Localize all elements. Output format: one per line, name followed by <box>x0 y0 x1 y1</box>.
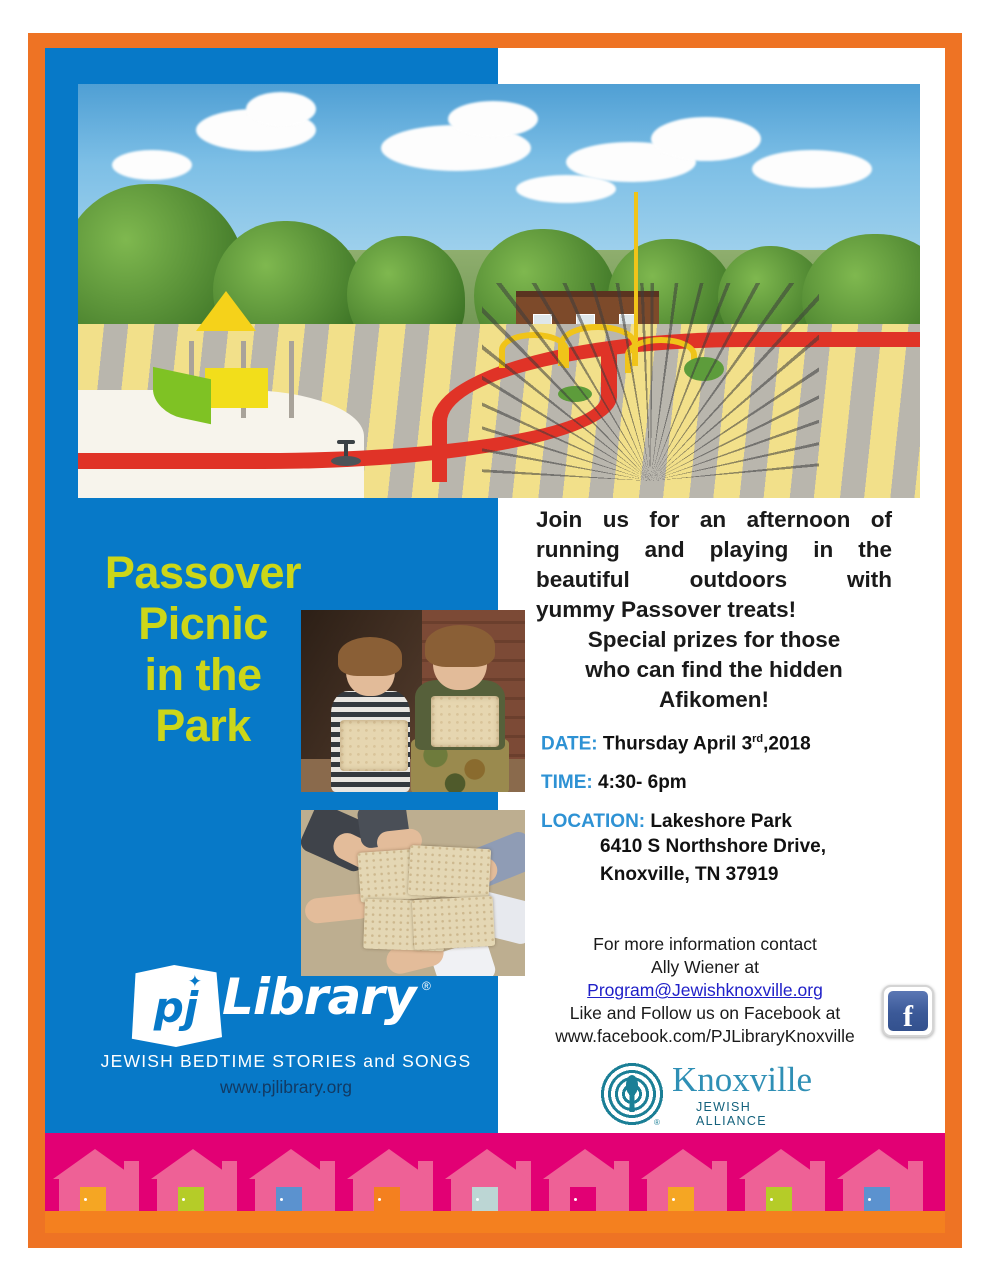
base <box>331 456 361 466</box>
contact-line-4: www.facebook.com/PJLibraryKnoxville <box>531 1025 879 1048</box>
post <box>289 341 294 418</box>
yellow-roof-cone <box>196 291 256 331</box>
hands-sharing-matzah-photo <box>301 810 525 976</box>
roof <box>249 1149 333 1179</box>
spring-rider-toy <box>331 440 361 466</box>
open-book-icon: ✦ pj <box>130 965 222 1047</box>
pj-url: www.pjlibrary.org <box>88 1077 484 1098</box>
body-line-6: who can find the hidden <box>536 655 892 685</box>
body-line-7: Afikomen! <box>536 685 892 715</box>
house-icon <box>249 1149 333 1211</box>
contact-line-3: Like and Follow us on Facebook at <box>531 1002 879 1025</box>
door <box>276 1187 302 1211</box>
email-link[interactable]: Program@Jewishknoxville.org <box>531 979 879 1002</box>
children-eating-matzah-photo <box>301 610 525 792</box>
title-line-4: Park <box>78 701 328 752</box>
cloud <box>112 150 192 180</box>
date-ordinal: rd <box>752 733 763 745</box>
pj-monogram: pj <box>154 987 198 1029</box>
doorknob <box>868 1198 871 1201</box>
orange-ground-strip <box>45 1211 945 1233</box>
matzah-piece <box>412 896 495 950</box>
doorknob <box>378 1198 381 1201</box>
date-value: Thursday April 3 <box>603 733 752 754</box>
title-line-1: Passover <box>78 548 328 599</box>
house-icon <box>543 1149 627 1211</box>
doorknob <box>182 1198 185 1201</box>
roof <box>151 1149 235 1179</box>
location-street: 6410 S Northshore Drive, <box>600 833 941 861</box>
menorah-stem <box>630 1091 635 1111</box>
title-line-2: Picnic <box>78 599 328 650</box>
location-city: Knoxville, TN 37919 <box>600 861 941 889</box>
facebook-f-glyph: f <box>888 991 928 1031</box>
pj-wordmark: Library <box>222 971 415 1024</box>
matzah <box>431 696 499 747</box>
doorknob <box>672 1198 675 1201</box>
detail-location: LOCATION: Lakeshore Park 6410 S Northsho… <box>541 811 941 888</box>
time-value: 4:30- 6pm <box>598 772 687 793</box>
house-icon <box>151 1149 235 1211</box>
title-line-3: in the <box>78 650 328 701</box>
cloud <box>752 150 872 188</box>
doorknob <box>84 1198 87 1201</box>
roof <box>347 1149 431 1179</box>
date-year: ,2018 <box>763 733 811 754</box>
event-details: DATE: Thursday April 3rd,2018 TIME: 4:30… <box>541 733 941 905</box>
pj-library-logo: ✦ pj Library ® JEWISH BEDTIME STORIES an… <box>130 965 440 1060</box>
knoxville-jewish-alliance-logo: ® Knoxville JEWISH ALLIANCE <box>598 1060 806 1130</box>
facebook-icon[interactable]: f <box>882 985 934 1037</box>
child-right <box>409 632 512 792</box>
roof <box>53 1149 137 1179</box>
doorknob <box>476 1198 479 1201</box>
door <box>374 1187 400 1211</box>
child-hair <box>425 625 495 667</box>
roof <box>739 1149 823 1179</box>
yellow-panel <box>205 368 269 408</box>
house-icon <box>837 1149 921 1211</box>
flyer-page: Passover Picnic in the Park <box>0 0 990 1281</box>
matzah <box>340 720 408 771</box>
door <box>864 1187 890 1211</box>
contact-line-1: For more information contact <box>531 933 879 956</box>
matzah-piece <box>407 844 490 898</box>
house-icon <box>53 1149 137 1211</box>
door <box>766 1187 792 1211</box>
roof <box>543 1149 627 1179</box>
playground-photo <box>78 84 920 498</box>
kja-subtitle: JEWISH ALLIANCE <box>696 1100 806 1128</box>
house-border-decoration <box>45 1133 945 1233</box>
date-label: DATE: <box>541 733 598 754</box>
roof <box>837 1149 921 1179</box>
child-hair <box>338 637 402 676</box>
door <box>570 1187 596 1211</box>
kja-name: Knoxville <box>672 1062 812 1097</box>
body-line-2: running and playing in the <box>536 535 892 565</box>
body-line-5: Special prizes for those <box>536 625 892 655</box>
child-left <box>323 643 417 792</box>
contact-info: For more information contact Ally Wiener… <box>531 933 879 1048</box>
cloud <box>651 117 761 161</box>
location-name: Lakeshore Park <box>650 811 792 832</box>
body-line-1: Join us for an afternoon of <box>536 505 892 535</box>
rope-climbing-net <box>482 283 819 482</box>
location-label: LOCATION: <box>541 811 645 832</box>
house-icon <box>347 1149 431 1211</box>
detail-time: TIME: 4:30- 6pm <box>541 772 941 794</box>
doorknob <box>574 1198 577 1201</box>
green-slide <box>153 367 211 424</box>
time-label: TIME: <box>541 772 593 793</box>
door <box>668 1187 694 1211</box>
house-icon <box>739 1149 823 1211</box>
kja-registered-mark: ® <box>654 1118 660 1127</box>
page-title: Passover Picnic in the Park <box>78 548 328 751</box>
door <box>178 1187 204 1211</box>
roof <box>641 1149 725 1179</box>
registered-mark: ® <box>422 979 431 993</box>
house-icon <box>445 1149 529 1211</box>
detail-date: DATE: Thursday April 3rd,2018 <box>541 733 941 755</box>
body-line-4: yummy Passover treats! <box>536 595 892 625</box>
cloud <box>448 101 538 137</box>
pj-tagline: JEWISH BEDTIME STORIES and SONGS <box>88 1051 484 1072</box>
event-description: Join us for an afternoon of running and … <box>536 505 892 714</box>
roof <box>445 1149 529 1179</box>
door <box>80 1187 106 1211</box>
play-structure <box>162 291 314 423</box>
body-line-3: beautiful outdoors with <box>536 565 892 595</box>
doorknob <box>770 1198 773 1201</box>
house-icon <box>641 1149 725 1211</box>
door <box>472 1187 498 1211</box>
doorknob <box>280 1198 283 1201</box>
contact-line-2: Ally Wiener at <box>531 956 879 979</box>
